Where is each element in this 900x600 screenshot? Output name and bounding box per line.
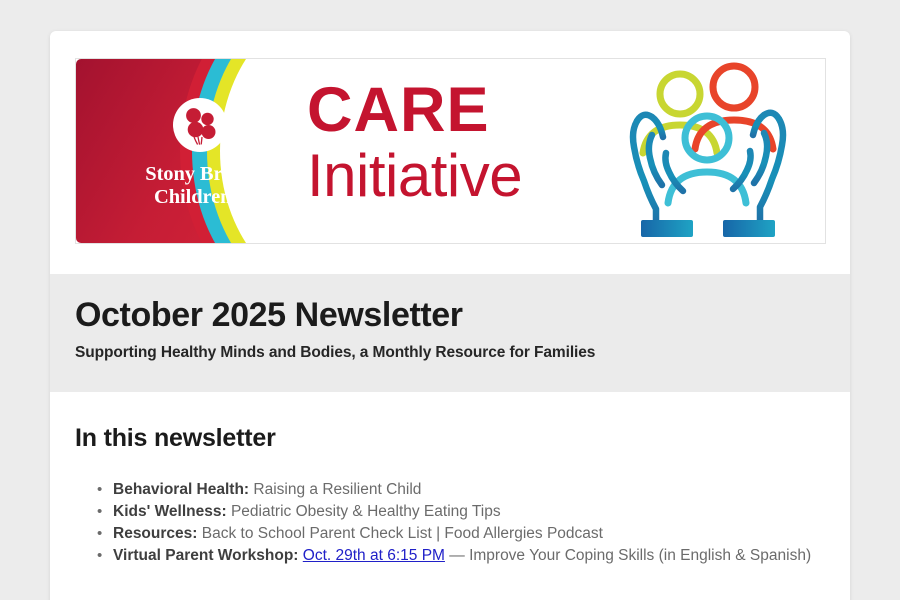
care-word: CARE bbox=[307, 79, 522, 142]
list-item-label: Virtual Parent Workshop: bbox=[113, 547, 298, 564]
page-subtitle: Supporting Healthy Minds and Bodies, a M… bbox=[75, 344, 825, 362]
list-item: Kids' Wellness: Pediatric Obesity & Heal… bbox=[113, 501, 825, 523]
stony-brook-wordmark: Stony Brook Children's bbox=[122, 163, 277, 210]
email-card: Stony Brook Children's CARE Initiative bbox=[50, 31, 850, 600]
page-title: October 2025 Newsletter bbox=[75, 296, 825, 334]
newsletter-page: Stony Brook Children's CARE Initiative bbox=[0, 0, 900, 600]
table-of-contents-list: Behavioral Health: Raising a Resilient C… bbox=[75, 479, 825, 567]
stony-brook-childrens-logo: Stony Brook Children's bbox=[122, 97, 277, 210]
care-initiative-banner: Stony Brook Children's CARE Initiative bbox=[76, 59, 825, 243]
banner-image-frame: Stony Brook Children's CARE Initiative bbox=[75, 58, 826, 244]
list-item: Virtual Parent Workshop: Oct. 29th at 6:… bbox=[113, 545, 825, 567]
newsletter-body: In this newsletter Behavioral Health: Ra… bbox=[50, 392, 850, 567]
balloons-circle-icon bbox=[172, 97, 228, 153]
list-item: Resources: Back to School Parent Check L… bbox=[113, 523, 825, 545]
list-item-label: Behavioral Health: bbox=[113, 481, 249, 498]
list-item-text: Raising a Resilient Child bbox=[249, 481, 421, 498]
care-initiative-wordmark: CARE Initiative bbox=[307, 79, 522, 206]
hands-holding-family-icon bbox=[619, 59, 815, 243]
list-item-label: Kids' Wellness: bbox=[113, 503, 227, 520]
left-wrist-block bbox=[641, 220, 693, 237]
list-item-label: Resources: bbox=[113, 525, 197, 542]
section-heading-in-this-newsletter: In this newsletter bbox=[75, 424, 825, 453]
list-item-text: Back to School Parent Check List | Food … bbox=[197, 525, 603, 542]
right-wrist-block bbox=[723, 220, 775, 237]
list-item-text: Pediatric Obesity & Healthy Eating Tips bbox=[227, 503, 501, 520]
initiative-word: Initiative bbox=[307, 146, 522, 206]
list-item-text-after-link: — Improve Your Coping Skills (in English… bbox=[445, 547, 811, 564]
list-item: Behavioral Health: Raising a Resilient C… bbox=[113, 479, 825, 501]
newsletter-title-band: October 2025 Newsletter Supporting Healt… bbox=[50, 274, 850, 392]
workshop-date-link[interactable]: Oct. 29th at 6:15 PM bbox=[303, 547, 445, 564]
